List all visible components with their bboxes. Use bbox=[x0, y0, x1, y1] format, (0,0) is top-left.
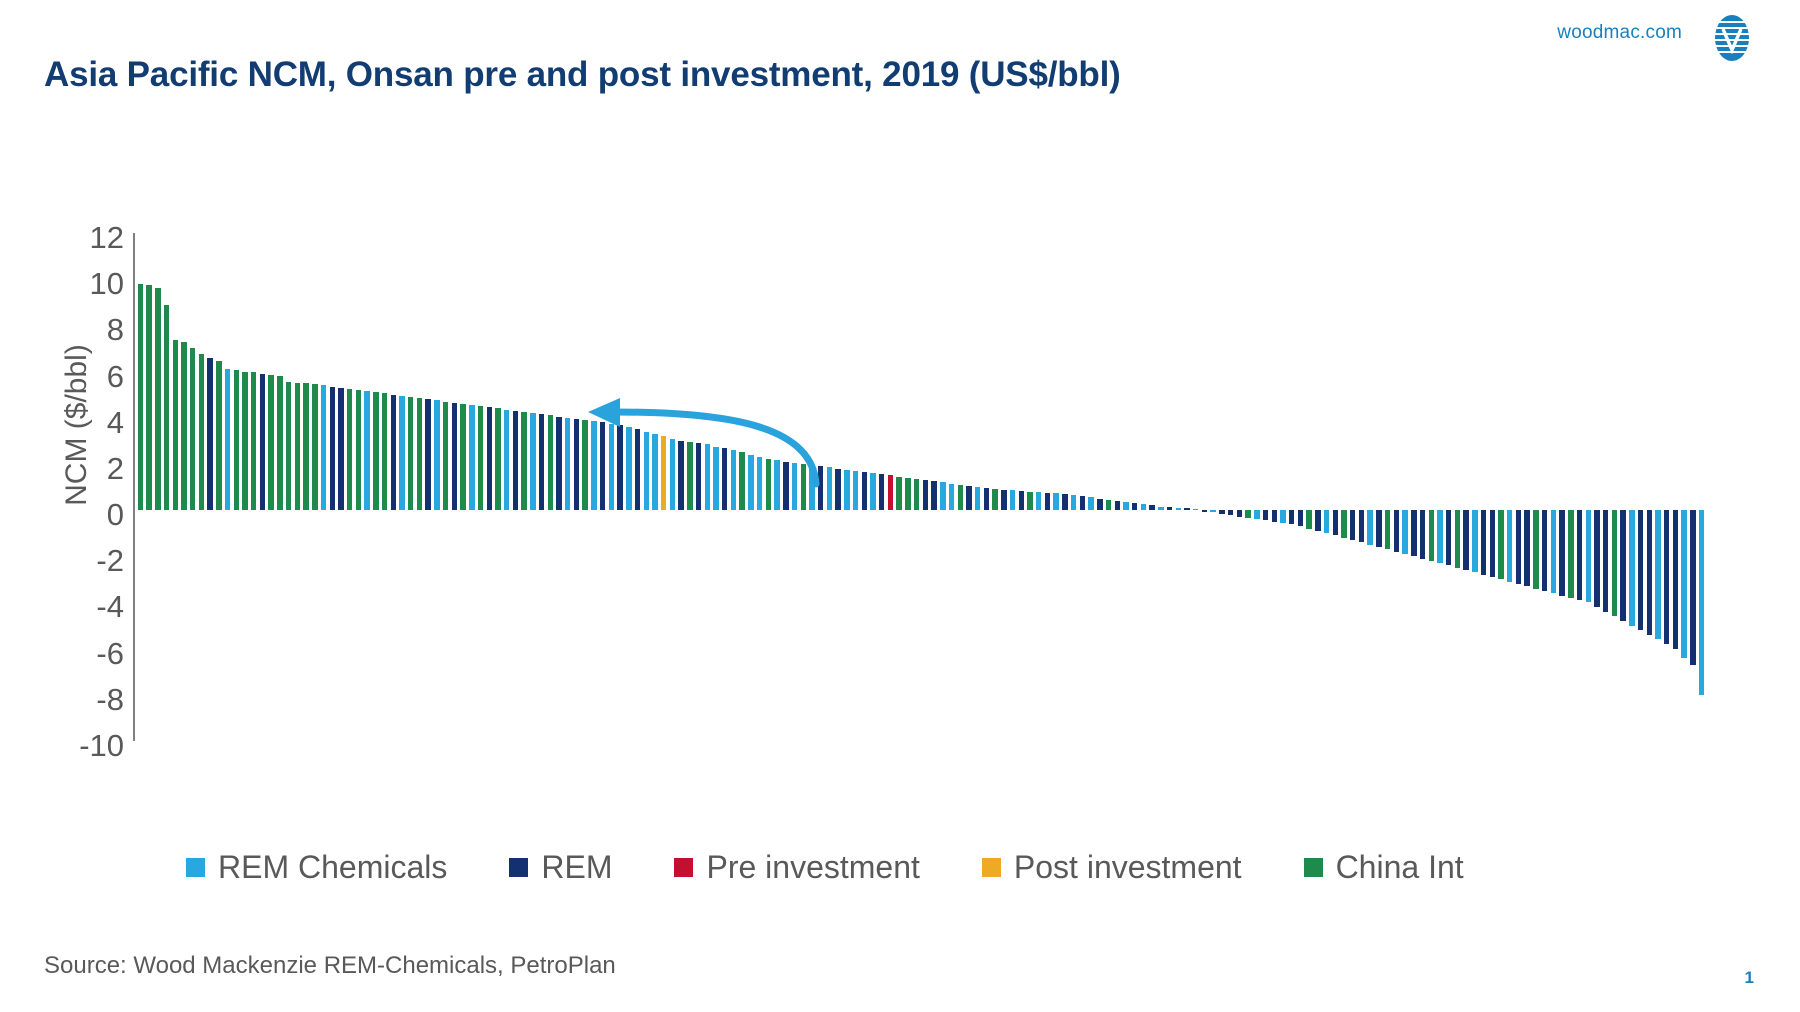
chart-bar bbox=[1245, 510, 1250, 518]
chart-bar bbox=[1516, 510, 1521, 584]
chart-bar bbox=[1481, 510, 1486, 575]
chart-bar bbox=[1289, 510, 1294, 524]
chart-bar bbox=[356, 390, 361, 510]
chart-bar bbox=[277, 376, 282, 510]
chart-bar bbox=[513, 411, 518, 510]
chart-bar bbox=[1507, 510, 1512, 582]
y-axis-tick-label: 2 bbox=[52, 453, 124, 484]
chart-bar bbox=[931, 481, 936, 510]
chart-bar bbox=[670, 439, 675, 511]
y-axis-tick-label: -10 bbox=[52, 730, 124, 761]
chart-bar bbox=[1551, 510, 1556, 593]
chart-bar bbox=[661, 436, 666, 510]
chart-bar bbox=[1324, 510, 1329, 533]
chart-bar bbox=[1498, 510, 1503, 579]
chart-bar bbox=[1036, 492, 1041, 510]
chart-bar bbox=[792, 463, 797, 510]
chart-bar bbox=[1210, 510, 1215, 512]
chart-bar bbox=[1202, 510, 1207, 512]
chart-bar bbox=[216, 361, 221, 510]
chart-bar bbox=[399, 396, 404, 510]
plot-area bbox=[136, 233, 1706, 741]
chart-bar bbox=[312, 384, 317, 510]
chart-bar bbox=[1681, 510, 1686, 658]
chart-bar bbox=[774, 460, 779, 510]
chart-bar bbox=[330, 387, 335, 511]
chart-bar bbox=[1254, 510, 1259, 519]
chart-bar bbox=[844, 470, 849, 510]
chart-bar bbox=[338, 388, 343, 510]
chart-bar bbox=[1228, 510, 1233, 515]
y-axis-tick-label: -2 bbox=[52, 545, 124, 576]
chart-bar bbox=[1280, 510, 1285, 523]
chart-bar bbox=[905, 478, 910, 510]
chart-bar bbox=[731, 450, 736, 510]
chart-bar bbox=[1263, 510, 1268, 520]
chart-bar bbox=[1411, 510, 1416, 556]
legend-swatch-icon bbox=[1304, 858, 1323, 877]
chart-bar bbox=[1559, 510, 1564, 595]
chart-bar bbox=[1158, 507, 1163, 510]
chart-bar bbox=[1088, 497, 1093, 510]
ncm-bar-chart: NCM ($/bbl) 121086420-2-4-6-8-10 REM Che… bbox=[0, 0, 1800, 1012]
y-axis-tick-label: 8 bbox=[52, 314, 124, 345]
chart-bar bbox=[1385, 510, 1390, 549]
chart-bar bbox=[896, 477, 901, 510]
y-axis-tick-label: 10 bbox=[52, 268, 124, 299]
chart-bar bbox=[539, 414, 544, 510]
chart-bar bbox=[617, 425, 622, 510]
chart-bar bbox=[146, 285, 151, 510]
chart-bar bbox=[609, 424, 614, 511]
chart-bar bbox=[556, 417, 561, 511]
chart-bar bbox=[155, 288, 160, 510]
chart-bar bbox=[818, 466, 823, 510]
chart-bar bbox=[1463, 510, 1468, 570]
chart-bar bbox=[1446, 510, 1451, 565]
chart-bar bbox=[574, 419, 579, 510]
chart-bar bbox=[582, 420, 587, 510]
chart-bar bbox=[1367, 510, 1372, 545]
chart-bar bbox=[1568, 510, 1573, 598]
chart-bar bbox=[1429, 510, 1434, 561]
chart-bar bbox=[460, 404, 465, 510]
chart-bar bbox=[260, 374, 265, 510]
chart-bar bbox=[705, 444, 710, 510]
chart-bar bbox=[417, 398, 422, 510]
y-axis-tick-label: 12 bbox=[52, 222, 124, 253]
chart-bar bbox=[1647, 510, 1652, 635]
legend-item-rem-chemicals[interactable]: REM Chemicals bbox=[186, 849, 447, 886]
chart-bar bbox=[1437, 510, 1442, 563]
chart-bar bbox=[1673, 510, 1678, 649]
chart-bar bbox=[914, 479, 919, 510]
legend-item-label: REM Chemicals bbox=[218, 849, 447, 886]
chart-bar bbox=[190, 348, 195, 510]
chart-bar bbox=[862, 472, 867, 510]
chart-bar bbox=[870, 473, 875, 510]
chart-bar bbox=[1542, 510, 1547, 591]
chart-bar bbox=[1306, 510, 1311, 528]
chart-bar bbox=[748, 455, 753, 510]
chart-bar bbox=[434, 400, 439, 510]
chart-bar bbox=[626, 427, 631, 510]
chart-bar bbox=[452, 403, 457, 510]
chart-bar bbox=[1577, 510, 1582, 600]
chart-bar bbox=[303, 383, 308, 510]
legend-item-rem[interactable]: REM bbox=[509, 849, 612, 886]
chart-bar bbox=[181, 342, 186, 511]
chart-bar bbox=[687, 442, 692, 510]
chart-bar bbox=[478, 406, 483, 510]
y-axis-tick-label: -8 bbox=[52, 684, 124, 715]
chart-bar bbox=[268, 375, 273, 510]
chart-bar bbox=[739, 452, 744, 510]
chart-bar bbox=[1524, 510, 1529, 586]
chart-bar bbox=[173, 340, 178, 510]
chart-bar bbox=[1219, 510, 1224, 513]
chart-bar bbox=[1149, 505, 1154, 510]
chart-bar bbox=[225, 369, 230, 510]
chart-bar bbox=[251, 372, 256, 511]
chart-bar bbox=[853, 471, 858, 510]
chart-bar bbox=[321, 385, 326, 510]
chart-bar bbox=[548, 415, 553, 510]
chart-bar bbox=[678, 441, 683, 510]
chart-bar bbox=[391, 395, 396, 510]
y-axis-tick-labels: 121086420-2-4-6-8-10 bbox=[52, 222, 124, 742]
chart-bar bbox=[1612, 510, 1617, 616]
chart-bar bbox=[425, 399, 430, 510]
page-number: 1 bbox=[1745, 968, 1754, 988]
chart-bar bbox=[521, 412, 526, 510]
chart-legend: REM ChemicalsREMPre investmentPost inves… bbox=[186, 845, 1526, 889]
chart-bar bbox=[286, 382, 291, 510]
chart-bar bbox=[1115, 501, 1120, 510]
chart-bar bbox=[1359, 510, 1364, 542]
chart-bar bbox=[1106, 500, 1111, 510]
chart-bar bbox=[958, 485, 963, 510]
chart-bar bbox=[347, 389, 352, 510]
chart-bar bbox=[1019, 491, 1024, 510]
chart-bar bbox=[940, 482, 945, 510]
chart-bar bbox=[1594, 510, 1599, 607]
legend-item-label: China Int bbox=[1336, 849, 1464, 886]
chart-bar bbox=[1533, 510, 1538, 589]
chart-bar bbox=[923, 480, 928, 510]
chart-bar bbox=[1123, 502, 1128, 510]
chart-bar bbox=[757, 457, 762, 510]
legend-swatch-icon bbox=[674, 858, 693, 877]
legend-swatch-icon bbox=[982, 858, 1001, 877]
chart-bar bbox=[1376, 510, 1381, 547]
y-axis-tick-label: 6 bbox=[52, 361, 124, 392]
chart-bar bbox=[984, 488, 989, 510]
chart-bar bbox=[1490, 510, 1495, 577]
chart-bar bbox=[234, 370, 239, 510]
chart-bar bbox=[879, 474, 884, 510]
chart-bar bbox=[652, 434, 657, 510]
legend-item-label: Pre investment bbox=[706, 849, 919, 886]
chart-bar bbox=[1132, 503, 1137, 510]
chart-bar bbox=[1080, 496, 1085, 510]
chart-bar bbox=[1690, 510, 1695, 665]
chart-bar bbox=[696, 443, 701, 510]
legend-item-post-investment[interactable]: Post investment bbox=[982, 849, 1242, 886]
chart-bar bbox=[138, 284, 143, 510]
chart-bar bbox=[1350, 510, 1355, 540]
legend-item-china-int[interactable]: China Int bbox=[1304, 849, 1464, 886]
chart-bar bbox=[1402, 510, 1407, 554]
chart-bar bbox=[469, 405, 474, 510]
y-axis-tick-label: -4 bbox=[52, 591, 124, 622]
chart-bar bbox=[1394, 510, 1399, 552]
chart-bar bbox=[722, 448, 727, 510]
y-axis-line bbox=[133, 233, 135, 741]
chart-bar bbox=[835, 469, 840, 511]
chart-bar bbox=[713, 447, 718, 511]
y-axis-tick-label: -6 bbox=[52, 638, 124, 669]
legend-item-label: Post investment bbox=[1014, 849, 1242, 886]
chart-bar bbox=[1272, 510, 1277, 522]
chart-bar bbox=[164, 305, 169, 511]
chart-bar bbox=[530, 413, 535, 510]
chart-bar bbox=[1141, 504, 1146, 510]
legend-swatch-icon bbox=[186, 858, 205, 877]
chart-bar bbox=[1341, 510, 1346, 538]
chart-bar bbox=[207, 358, 212, 510]
chart-bar bbox=[1638, 510, 1643, 630]
chart-bar bbox=[1315, 510, 1320, 531]
chart-bar bbox=[199, 354, 204, 510]
chart-bar bbox=[1586, 510, 1591, 602]
chart-bar bbox=[565, 418, 570, 510]
chart-bar bbox=[783, 462, 788, 510]
chart-bar bbox=[1472, 510, 1477, 572]
chart-bar bbox=[364, 391, 369, 510]
chart-bar bbox=[1333, 510, 1338, 535]
y-axis-tick-label: 0 bbox=[52, 499, 124, 530]
chart-bar bbox=[1629, 510, 1634, 625]
chart-bar bbox=[1010, 490, 1015, 510]
chart-bar bbox=[495, 408, 500, 510]
chart-bar bbox=[1097, 499, 1102, 511]
chart-bar bbox=[801, 464, 806, 510]
chart-bar bbox=[1298, 510, 1303, 526]
y-axis-tick-label: 4 bbox=[52, 407, 124, 438]
chart-bar bbox=[644, 432, 649, 511]
chart-bar bbox=[827, 467, 832, 510]
chart-bar bbox=[1045, 493, 1050, 510]
chart-bar bbox=[1237, 510, 1242, 517]
chart-bar bbox=[1699, 510, 1704, 695]
chart-bar bbox=[504, 410, 509, 510]
chart-bar bbox=[966, 486, 971, 510]
chart-bar bbox=[975, 487, 980, 510]
chart-bar bbox=[295, 383, 300, 510]
chart-bar bbox=[487, 407, 492, 510]
chart-bar bbox=[591, 421, 596, 510]
chart-bar bbox=[242, 372, 247, 511]
chart-bar bbox=[373, 392, 378, 510]
chart-bar bbox=[1071, 495, 1076, 510]
chart-bar bbox=[1655, 510, 1660, 639]
source-note: Source: Wood Mackenzie REM-Chemicals, Pe… bbox=[44, 952, 616, 980]
chart-bar bbox=[1193, 509, 1198, 511]
chart-bar bbox=[408, 397, 413, 510]
chart-bar bbox=[1176, 508, 1181, 510]
chart-bar bbox=[949, 484, 954, 511]
chart-bar bbox=[1620, 510, 1625, 621]
chart-bar bbox=[1603, 510, 1608, 612]
chart-bar bbox=[1027, 492, 1032, 510]
chart-bar bbox=[1053, 493, 1058, 510]
chart-bar bbox=[1167, 507, 1172, 510]
legend-item-label: REM bbox=[541, 849, 612, 886]
legend-swatch-icon bbox=[509, 858, 528, 877]
chart-bar bbox=[1001, 490, 1006, 510]
chart-bar bbox=[443, 402, 448, 511]
legend-item-pre-investment[interactable]: Pre investment bbox=[674, 849, 919, 886]
chart-bar bbox=[888, 475, 893, 510]
chart-bar bbox=[1420, 510, 1425, 558]
chart-bar bbox=[992, 489, 997, 510]
chart-bar bbox=[1664, 510, 1669, 644]
chart-bar bbox=[635, 429, 640, 510]
chart-bar bbox=[382, 393, 387, 510]
chart-bar bbox=[1455, 510, 1460, 568]
chart-bar bbox=[1062, 494, 1067, 510]
chart-bar bbox=[809, 465, 814, 510]
chart-bar bbox=[766, 459, 771, 510]
chart-bar bbox=[1184, 508, 1189, 510]
chart-bar bbox=[600, 422, 605, 510]
